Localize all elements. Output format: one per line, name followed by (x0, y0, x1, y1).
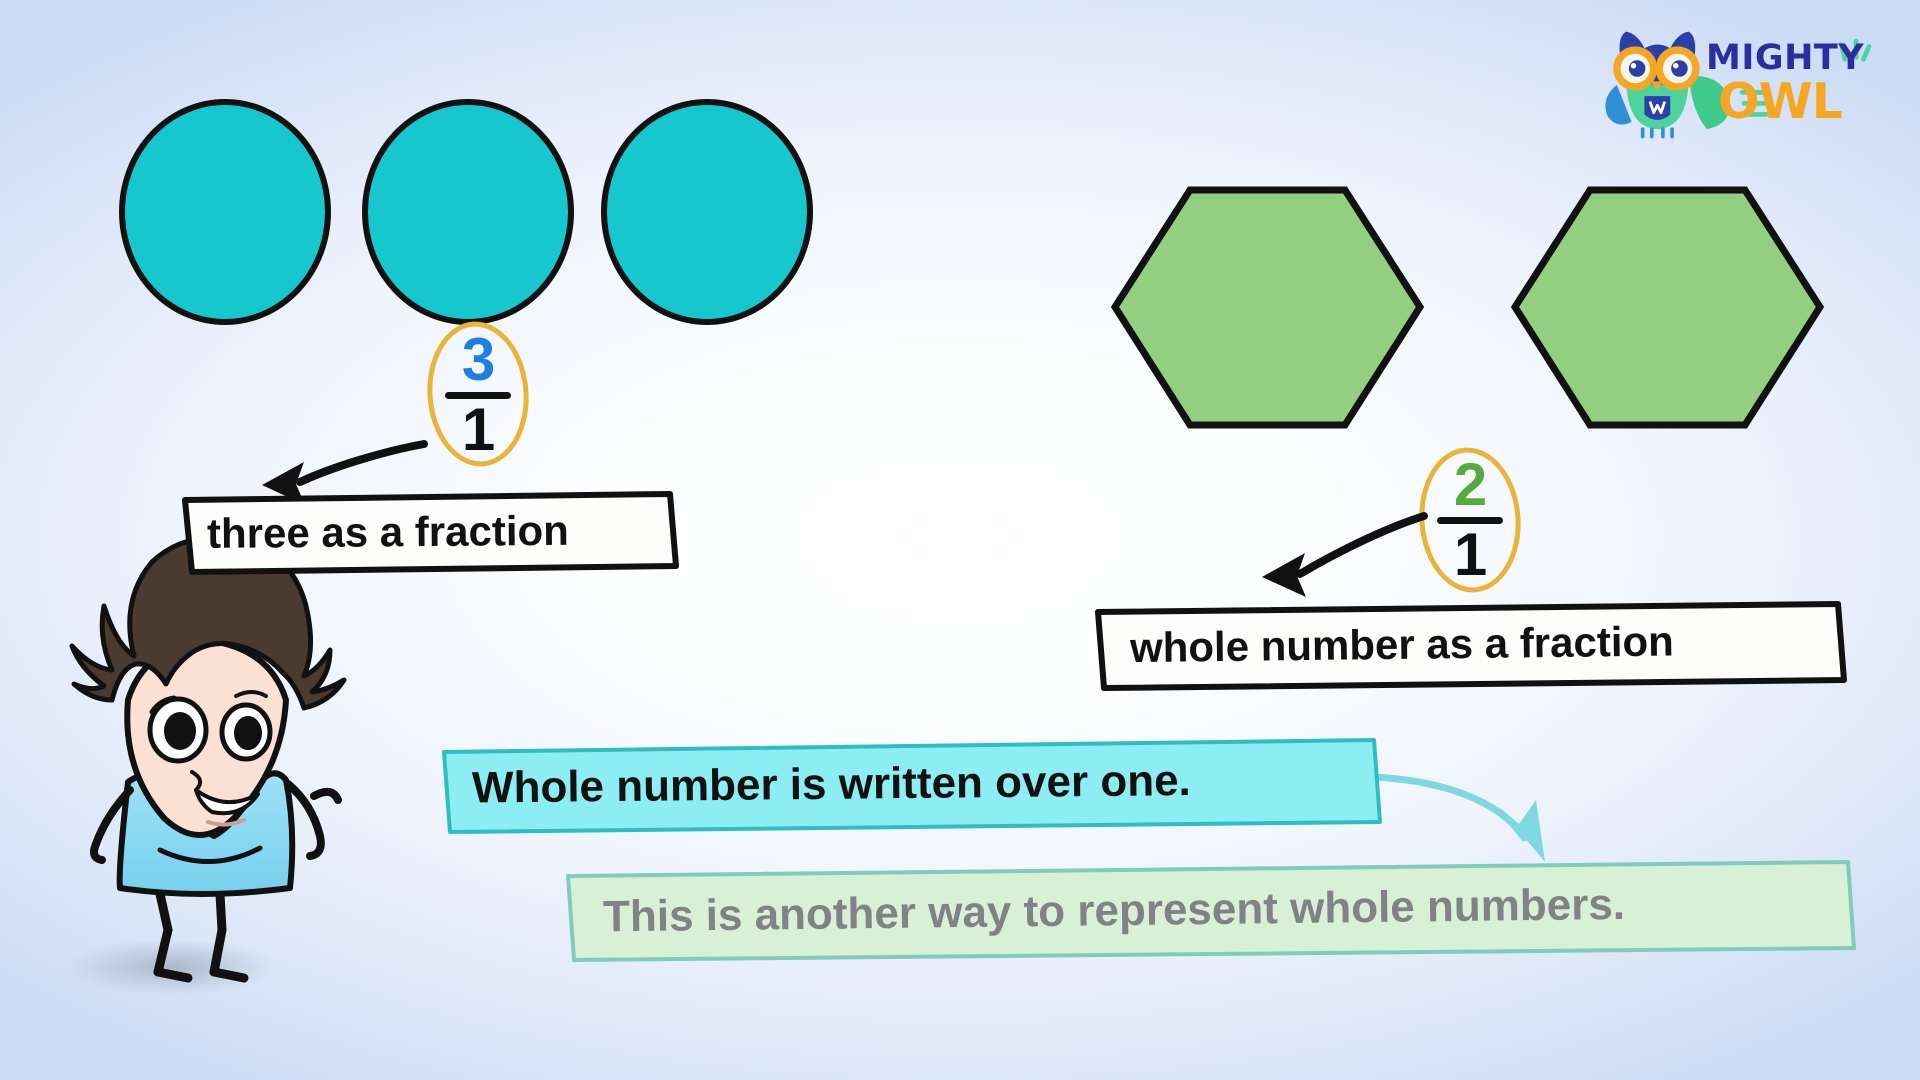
fraction-two-over-one: 2 1 (1424, 455, 1516, 585)
statement-note: This is another way to represent whole n… (565, 858, 1851, 962)
label-text: three as a fraction (207, 507, 569, 558)
fraction-denominator: 1 (1454, 525, 1486, 585)
character-arm-right (288, 784, 321, 856)
hexagon-shape-2 (1515, 190, 1820, 425)
circle-shape-3 (604, 102, 810, 322)
logo-word-owl: OWL (1718, 73, 1842, 130)
character-eye-right (222, 705, 270, 759)
character-nose (192, 772, 200, 790)
arrow-fraction-two-to-label (1262, 516, 1424, 597)
hexagons-group (1115, 190, 1820, 425)
fraction-denominator: 1 (462, 400, 494, 460)
character-leg-right (214, 858, 222, 972)
statement-rule: Whole number is written over one. (440, 737, 1376, 831)
circles-group (122, 102, 810, 322)
character-face (127, 640, 286, 835)
arrow-rule-to-note (1372, 777, 1545, 862)
girl-character (67, 538, 344, 995)
fraction-numerator: 2 (1454, 455, 1486, 515)
circle-shape-2 (365, 102, 571, 322)
character-dress-crease (160, 848, 260, 862)
label-three-as-a-fraction: three as a fraction (185, 492, 673, 572)
character-smile (196, 790, 258, 813)
statement-text: This is another way to represent whole n… (603, 880, 1626, 942)
character-leg-left (152, 858, 168, 972)
statement-text: Whole number is written over one. (472, 756, 1191, 814)
character-chin-line (208, 820, 244, 825)
character-pupil-right (234, 716, 262, 750)
mighty-owl-logo[interactable]: MIGHTY OWL (1600, 18, 1900, 130)
character-arm-left (94, 790, 130, 860)
slide-canvas: 3 1 2 1 three as a fraction whole number… (0, 0, 1920, 1080)
character-shadow (67, 939, 277, 995)
character-foot-right (214, 972, 244, 978)
label-text: whole number as a fraction (1130, 617, 1674, 672)
character-pupil-left (164, 712, 196, 750)
character-foot-left (158, 972, 188, 978)
character-hand-right (314, 792, 338, 800)
label-whole-number-as-a-fraction: whole number as a fraction (1098, 600, 1841, 687)
owl-feet (1643, 129, 1672, 136)
character-eyelash (152, 698, 174, 712)
character-eye-left (150, 699, 206, 761)
character-eyebrow (236, 692, 266, 696)
fraction-three-over-one: 3 1 (432, 330, 524, 460)
circle-shape-1 (122, 102, 328, 322)
character-dress (120, 773, 293, 894)
logo-word-mighty: MIGHTY (1706, 38, 1864, 78)
hexagon-shape-1 (1115, 190, 1420, 425)
fraction-numerator: 3 (462, 330, 494, 390)
